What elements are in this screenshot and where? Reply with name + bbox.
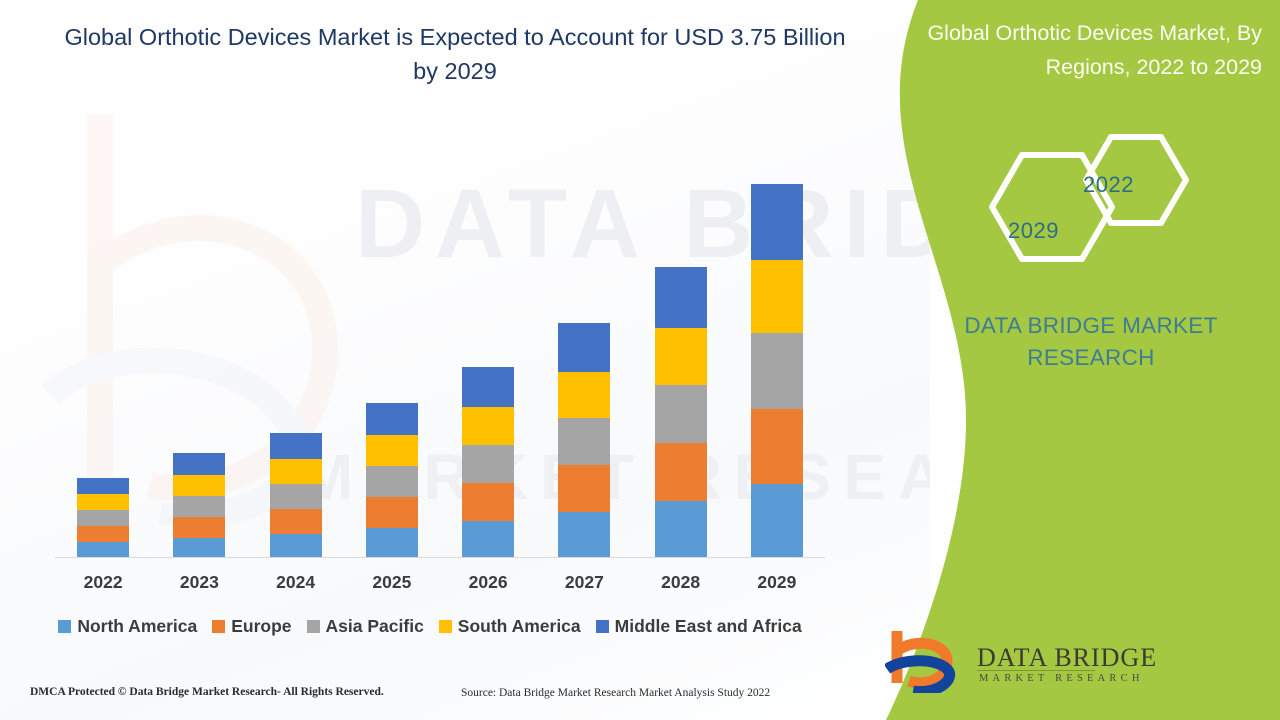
bar-segment-north-america — [366, 528, 418, 558]
bar-segment-north-america — [270, 534, 322, 558]
x-axis-label-2025: 2025 — [352, 572, 432, 593]
bar-segment-europe — [173, 517, 225, 538]
bar-segment-north-america — [655, 501, 707, 558]
bar-group-2029 — [751, 184, 803, 558]
logo-title: DATA BRIDGE — [977, 643, 1157, 673]
bar-segment-asia-pacific — [173, 496, 225, 517]
bar-segment-north-america — [462, 521, 514, 558]
bar-group-2028 — [655, 267, 707, 558]
x-axis-label-2028: 2028 — [641, 572, 721, 593]
bar-segment-middle-east-and-africa — [751, 184, 803, 260]
bar-segment-europe — [366, 497, 418, 528]
infographic-canvas: DATA BRIDGE MARKET RESEARCH Global Ortho… — [0, 0, 1280, 720]
legend-item-north-america[interactable]: North America — [58, 616, 197, 637]
legend-item-middle-east-and-africa[interactable]: Middle East and Africa — [596, 616, 802, 637]
chart-panel: DATA BRIDGE MARKET RESEARCH Global Ortho… — [0, 0, 930, 720]
bar-segment-north-america — [558, 512, 610, 558]
logo-subtitle: MARKET RESEARCH — [979, 673, 1144, 684]
source-notice: Source: Data Bridge Market Research Mark… — [461, 687, 770, 699]
panel-title: Global Orthotic Devices Market, By Regio… — [890, 16, 1262, 84]
bar-segment-europe — [270, 509, 322, 534]
legend-label: South America — [458, 616, 581, 637]
brand-name: DATA BRIDGE MARKET RESEARCH — [926, 310, 1256, 374]
bar-group-2025 — [366, 403, 418, 558]
legend-swatch-icon — [596, 620, 609, 633]
bar-segment-south-america — [558, 372, 610, 418]
legend-label: Asia Pacific — [326, 616, 424, 637]
brand-panel: Global Orthotic Devices Market, By Regio… — [838, 0, 1280, 720]
bar-segment-south-america — [462, 407, 514, 445]
bar-segment-middle-east-and-africa — [173, 453, 225, 475]
legend-item-asia-pacific[interactable]: Asia Pacific — [307, 616, 424, 637]
bar-segment-south-america — [173, 475, 225, 496]
bar-segment-europe — [558, 465, 610, 512]
legend-label: Europe — [231, 616, 291, 637]
bar-segment-middle-east-and-africa — [655, 267, 707, 328]
bar-segment-south-america — [270, 459, 322, 484]
bar-group-2024 — [270, 433, 322, 558]
bar-segment-europe — [462, 483, 514, 521]
bar-segment-asia-pacific — [77, 510, 129, 526]
bar-segment-south-america — [77, 494, 129, 510]
bar-segment-asia-pacific — [751, 333, 803, 409]
x-axis-label-2022: 2022 — [63, 572, 143, 593]
bar-segment-middle-east-and-africa — [77, 478, 129, 494]
bar-segment-north-america — [751, 484, 803, 558]
x-axis-label-2023: 2023 — [159, 572, 239, 593]
x-axis-label-2029: 2029 — [737, 572, 817, 593]
hexagon-label-end-year: 2029 — [1008, 218, 1059, 244]
bar-group-2027 — [558, 323, 610, 558]
bar-segment-europe — [655, 443, 707, 501]
year-hexagons — [978, 125, 1238, 290]
bar-segment-asia-pacific — [270, 484, 322, 509]
bar-segment-europe — [77, 526, 129, 542]
bar-segment-north-america — [173, 538, 225, 558]
bar-segment-middle-east-and-africa — [366, 403, 418, 435]
legend-swatch-icon — [307, 620, 320, 633]
bar-group-2026 — [462, 367, 514, 558]
bar-segment-middle-east-and-africa — [462, 367, 514, 407]
bar-group-2022 — [77, 478, 129, 558]
legend-label: North America — [77, 616, 197, 637]
bar-segment-asia-pacific — [655, 385, 707, 443]
legend-label: Middle East and Africa — [615, 616, 802, 637]
chart-plot-area — [55, 150, 825, 558]
bar-segment-north-america — [77, 542, 129, 558]
bar-segment-south-america — [655, 328, 707, 385]
page-title: Global Orthotic Devices Market is Expect… — [60, 20, 850, 88]
bar-group-2023 — [173, 453, 225, 558]
chart-legend: North AmericaEuropeAsia PacificSouth Ame… — [0, 616, 860, 637]
bar-segment-south-america — [366, 435, 418, 466]
chart-baseline — [55, 557, 825, 558]
x-axis-label-2024: 2024 — [256, 572, 336, 593]
x-axis-label-2026: 2026 — [448, 572, 528, 593]
bar-segment-asia-pacific — [558, 418, 610, 465]
chart-x-axis: 20222023202420252026202720282029 — [55, 572, 825, 598]
bar-segment-asia-pacific — [462, 445, 514, 483]
bar-segment-asia-pacific — [366, 466, 418, 497]
bar-segment-south-america — [751, 260, 803, 333]
logo-divider — [977, 670, 1095, 671]
legend-swatch-icon — [58, 620, 71, 633]
legend-swatch-icon — [212, 620, 225, 633]
bar-segment-middle-east-and-africa — [558, 323, 610, 372]
bar-segment-middle-east-and-africa — [270, 433, 322, 459]
hexagon-label-start-year: 2022 — [1083, 172, 1134, 198]
x-axis-label-2027: 2027 — [544, 572, 624, 593]
legend-swatch-icon — [439, 620, 452, 633]
legend-item-south-america[interactable]: South America — [439, 616, 581, 637]
legend-item-europe[interactable]: Europe — [212, 616, 291, 637]
copyright-notice: DMCA Protected © Data Bridge Market Rese… — [30, 686, 384, 698]
bar-segment-europe — [751, 409, 803, 484]
